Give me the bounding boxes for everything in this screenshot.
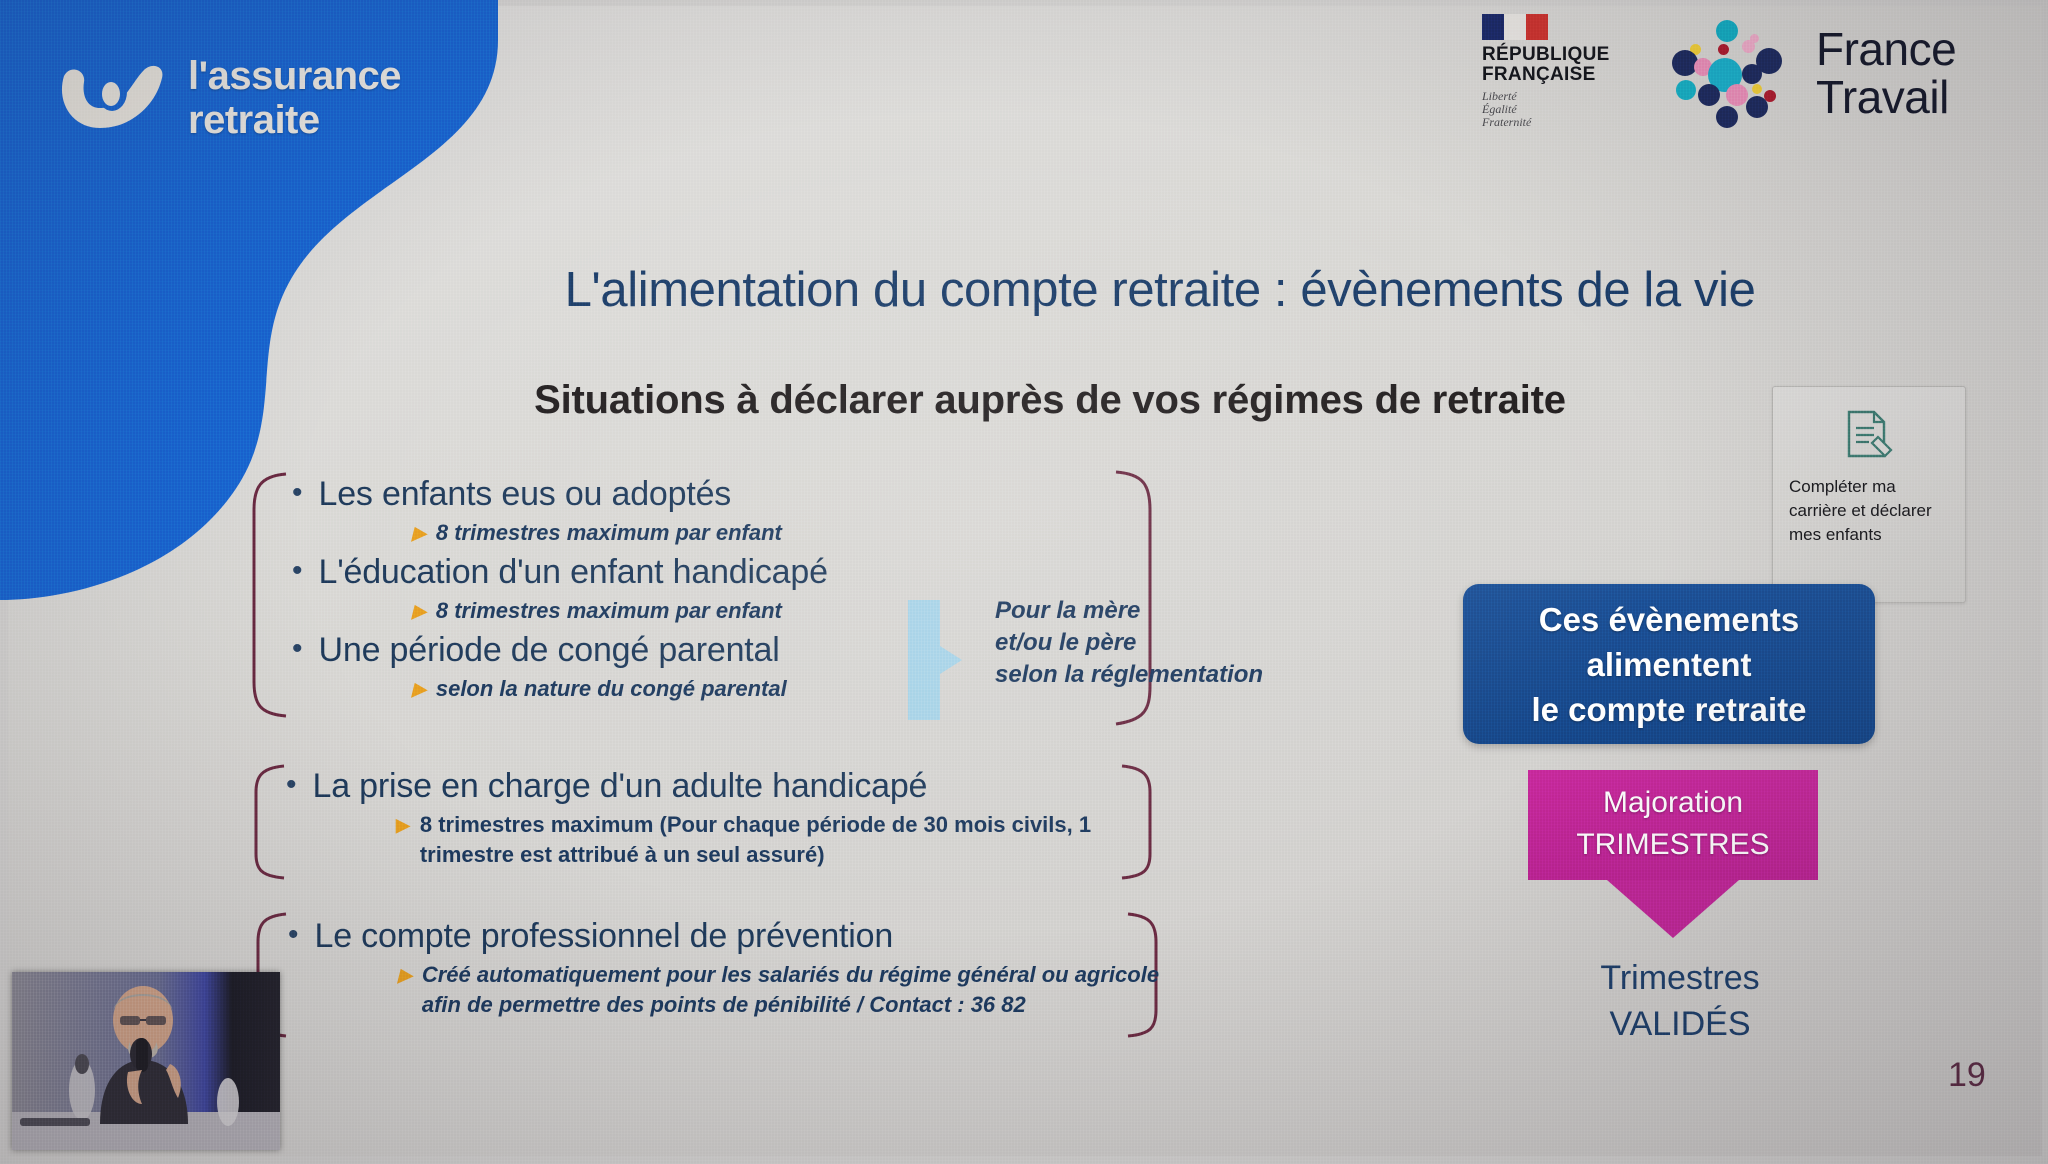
france-travail-line-2: Travail	[1816, 73, 1956, 121]
blue-callout-box: Ces évènements alimentent le compte retr…	[1463, 584, 1875, 744]
sub-bullet: ▶ 8 trimestres maximum (Pour chaque péri…	[396, 810, 1166, 870]
presentation-slide: l'assurance retraite RÉPUBLIQUE FRANÇAIS…	[0, 0, 2048, 1164]
middle-note: Pour la mère et/ou le père selon la régl…	[995, 595, 1263, 691]
majoration-label: Majoration TRIMESTRES	[1528, 770, 1818, 880]
bullet-dot-icon: •	[288, 912, 299, 958]
complete-career-card[interactable]: Compléter ma carrière et déclarer mes en…	[1772, 386, 1966, 603]
republique-line-2: FRANÇAISE	[1482, 65, 1642, 85]
bullet-text: Les enfants eus ou adoptés	[319, 470, 732, 518]
brace-group-enfants	[240, 470, 300, 720]
bullet-text: L'éducation d'un enfant handicapé	[319, 548, 828, 596]
down-arrow-icon	[1607, 880, 1739, 938]
blue-box-line-3: le compte retraite	[1531, 691, 1806, 728]
republique-motto: Liberté Égalité Fraternité	[1482, 90, 1642, 129]
triangle-marker-icon: ▶	[412, 674, 426, 704]
sub-bullet-text: selon la nature du congé parental	[436, 674, 787, 704]
list-item: • Le compte professionnel de prévention	[288, 912, 1168, 960]
middle-note-line-2: et/ou le père	[995, 627, 1263, 659]
bullet-text: Une période de congé parental	[319, 626, 780, 674]
majoration-arrow-block: Majoration TRIMESTRES	[1528, 770, 1818, 938]
blue-box-line-1: Ces évènements	[1539, 601, 1799, 638]
france-travail-logo: France Travail	[1672, 18, 1956, 128]
sub-bullet-text: 8 trimestres maximum par enfant	[436, 518, 782, 548]
france-travail-dots-icon	[1672, 18, 1802, 128]
middle-note-line-1: Pour la mère	[995, 595, 1263, 627]
bullet-dot-icon: •	[292, 626, 303, 672]
page-title: L'alimentation du compte retraite : évèn…	[380, 262, 1940, 318]
triangle-marker-icon: ▶	[398, 960, 412, 1020]
bullet-text: Le compte professionnel de prévention	[315, 912, 894, 960]
triangle-marker-icon: ▶	[396, 810, 410, 870]
sub-bullet: ▶ selon la nature du congé parental	[412, 674, 932, 704]
motto-fraternite: Fraternité	[1482, 116, 1642, 129]
french-flag-icon	[1482, 14, 1548, 40]
bullet-group-compte-prevention: • Le compte professionnel de prévention …	[288, 912, 1168, 1020]
valides-line-1: Trimestres	[1530, 955, 1830, 1001]
sub-bullet: ▶ 8 trimestres maximum par enfant	[412, 518, 932, 548]
france-travail-line-1: France	[1816, 25, 1956, 73]
majoration-line-1: Majoration	[1528, 782, 1818, 824]
document-pencil-icon	[1843, 409, 1895, 463]
sub-bullet-text: 8 trimestres maximum par enfant	[436, 596, 782, 626]
blue-box-line-2: alimentent	[1586, 646, 1751, 683]
triangle-marker-icon: ▶	[412, 518, 426, 548]
logo-line-2: retraite	[188, 98, 401, 142]
card-text: Compléter ma carrière et déclarer mes en…	[1773, 475, 1965, 547]
bullet-dot-icon: •	[286, 762, 297, 808]
bullet-group-adulte-handicape: • La prise en charge d'un adulte handica…	[286, 762, 1166, 870]
sub-bullet-text: 8 trimestres maximum (Pour chaque périod…	[420, 810, 1166, 870]
assurance-retraite-logo: l'assurance retraite	[52, 52, 472, 142]
logo-line-1: l'assurance	[188, 54, 401, 98]
bullet-text: La prise en charge d'un adulte handicapé	[313, 762, 928, 810]
assurance-retraite-wordmark: l'assurance retraite	[188, 54, 401, 142]
list-item: • L'éducation d'un enfant handicapé	[292, 548, 932, 596]
list-item: • La prise en charge d'un adulte handica…	[286, 762, 1166, 810]
page-subtitle: Situations à déclarer auprès de vos régi…	[380, 378, 1720, 423]
triangle-marker-icon: ▶	[412, 596, 426, 626]
trimestres-valides-label: Trimestres VALIDÉS	[1530, 955, 1830, 1047]
list-item: • Une période de congé parental	[292, 626, 932, 674]
republique-francaise-logo: RÉPUBLIQUE FRANÇAISE Liberté Égalité Fra…	[1482, 14, 1642, 129]
france-travail-wordmark: France Travail	[1816, 25, 1956, 121]
assurance-retraite-mark-icon	[52, 62, 182, 134]
sub-bullet: ▶ 8 trimestres maximum par enfant	[412, 596, 932, 626]
middle-note-line-3: selon la réglementation	[995, 659, 1263, 691]
page-number: 19	[1948, 1056, 1986, 1095]
majoration-line-2: TRIMESTRES	[1528, 824, 1818, 866]
republique-title: RÉPUBLIQUE FRANÇAISE	[1482, 45, 1642, 85]
bullet-dot-icon: •	[292, 548, 303, 594]
presenter-video-overlay[interactable]	[12, 972, 280, 1150]
sub-bullet-text: Créé automatiquement pour les salariés d…	[422, 960, 1168, 1020]
list-item: • Les enfants eus ou adoptés	[292, 470, 932, 518]
republique-line-1: RÉPUBLIQUE	[1482, 45, 1642, 65]
bullet-dot-icon: •	[292, 470, 303, 516]
bullet-group-enfants: • Les enfants eus ou adoptés ▶ 8 trimest…	[292, 470, 932, 704]
valides-line-2: VALIDÉS	[1530, 1001, 1830, 1047]
presenter-video-frame	[12, 972, 280, 1150]
sub-bullet: ▶ Créé automatiquement pour les salariés…	[398, 960, 1168, 1020]
